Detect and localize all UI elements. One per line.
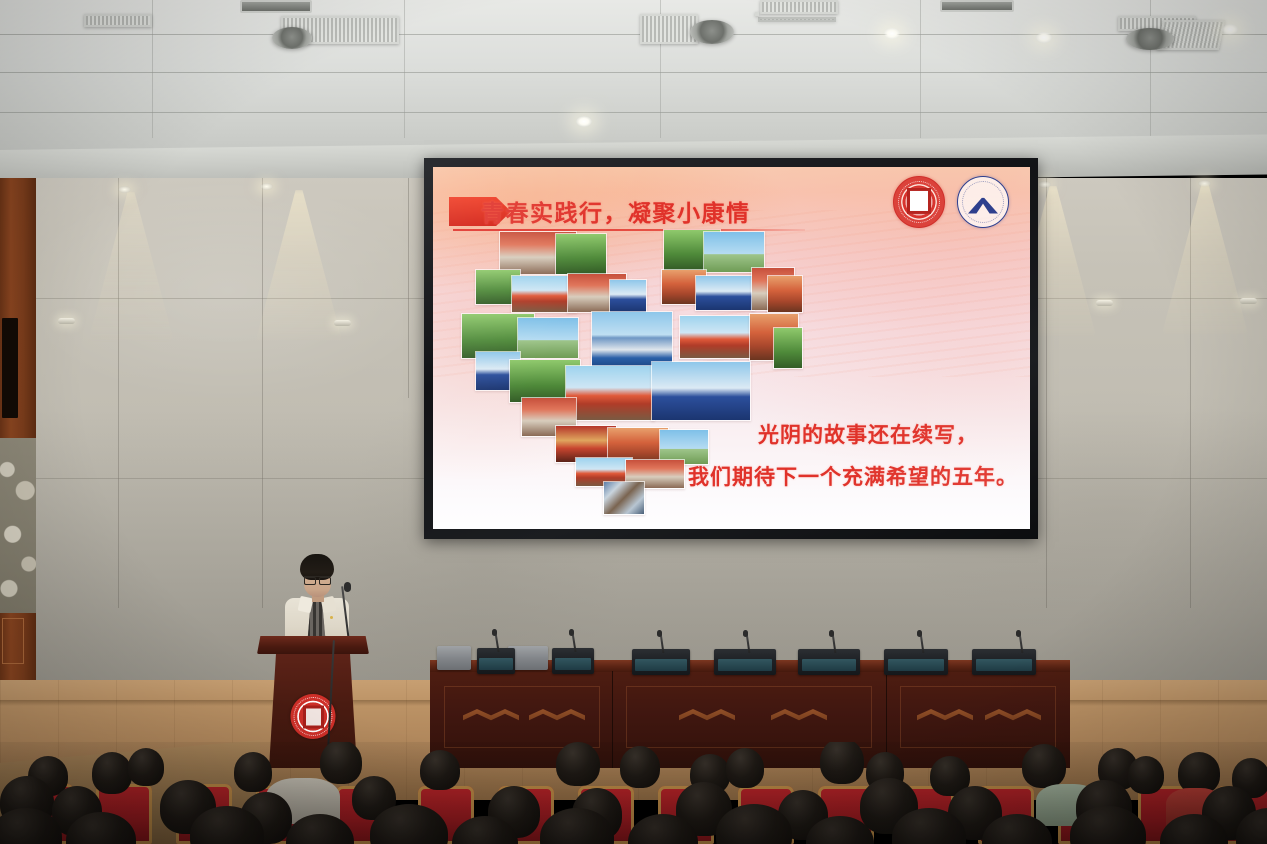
audience-head (726, 748, 764, 788)
presentation-slide: 青春实践行，凝聚小康情 (433, 167, 1030, 529)
ceiling-downlight (576, 116, 592, 127)
delegate-mic-unit (477, 648, 515, 674)
slide-body-line-1: 光阴的故事还在续写， (758, 419, 978, 449)
university-seal-logo (893, 176, 945, 228)
audience-head (620, 746, 660, 788)
delegate-mic-head (657, 630, 662, 637)
slide-title: 青春实践行，凝聚小康情 (481, 194, 751, 228)
audience-head (556, 742, 600, 786)
wall-washer-light (260, 183, 273, 190)
audience-head (92, 752, 132, 794)
delegate-mic-head (743, 630, 748, 637)
delegate-mic-unit (632, 649, 690, 675)
delegate-mic-unit (714, 649, 776, 675)
wall-washer-light (1038, 181, 1051, 188)
delegate-mic-head (1016, 630, 1021, 637)
left-wood-wall-panel (0, 178, 36, 690)
hvac-vent (758, 17, 836, 22)
audience-head (234, 752, 272, 792)
wall-light-fixture (1240, 298, 1257, 304)
hvac-vent (84, 14, 152, 27)
audience-area (0, 742, 1267, 844)
stone-wainscot (0, 438, 36, 613)
delegate-mic-unit (884, 649, 948, 675)
hvac-vent (640, 14, 698, 44)
podium-microphone-head (344, 582, 351, 592)
auditorium-scene: 青春实践行，凝聚小康情 (0, 0, 1267, 844)
hvac-vent (940, 0, 1014, 12)
delegate-mic-head (917, 630, 922, 637)
audience-head (1128, 756, 1164, 794)
delegate-mic-unit (798, 649, 860, 675)
delegate-mic-head (829, 630, 834, 637)
hvac-vent (240, 0, 312, 13)
audience-head (820, 742, 864, 784)
ceiling-downlight (1036, 32, 1052, 43)
delegate-mic-unit (552, 648, 594, 674)
ceiling-downlight (884, 28, 900, 39)
institute-emblem-logo (957, 176, 1009, 228)
delegate-mic-head (492, 629, 497, 636)
wall-light-fixture (1096, 300, 1113, 306)
led-screen-bezel: 青春实践行，凝聚小康情 (424, 158, 1038, 539)
delegate-mic-head (569, 629, 574, 636)
air-diffuser (690, 20, 734, 44)
hvac-vent (755, 12, 759, 16)
air-diffuser (1126, 28, 1174, 50)
delegate-mic-unit (972, 649, 1036, 675)
audience-head (128, 748, 164, 786)
slide-body-line-2: 我们期待下一个充满希望的五年。 (688, 461, 1018, 491)
audience-head (420, 750, 460, 790)
audience-head (320, 742, 362, 784)
air-diffuser (272, 27, 312, 49)
wall-light-fixture (334, 320, 351, 326)
hvac-vent (760, 0, 838, 14)
wall-washer-light (118, 186, 131, 193)
audience-head (1022, 744, 1066, 788)
ceiling-downlight (1222, 24, 1238, 35)
wall-washer-light (1198, 180, 1211, 187)
wall-light-fixture (58, 318, 75, 324)
laptop-left (437, 646, 471, 670)
eyeglasses-icon (304, 576, 331, 583)
